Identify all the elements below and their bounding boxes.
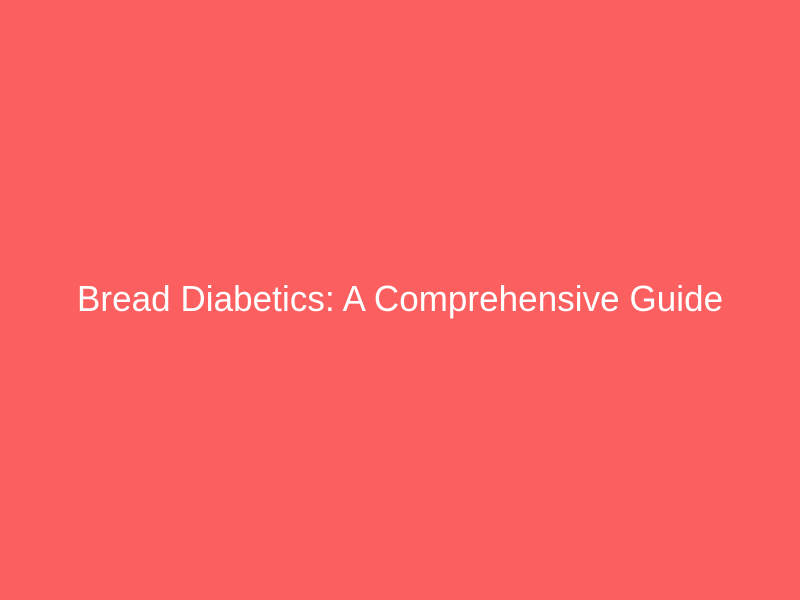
page-title: Bread Diabetics: A Comprehensive Guide [54,278,747,319]
title-card: Bread Diabetics: A Comprehensive Guide [0,0,800,600]
